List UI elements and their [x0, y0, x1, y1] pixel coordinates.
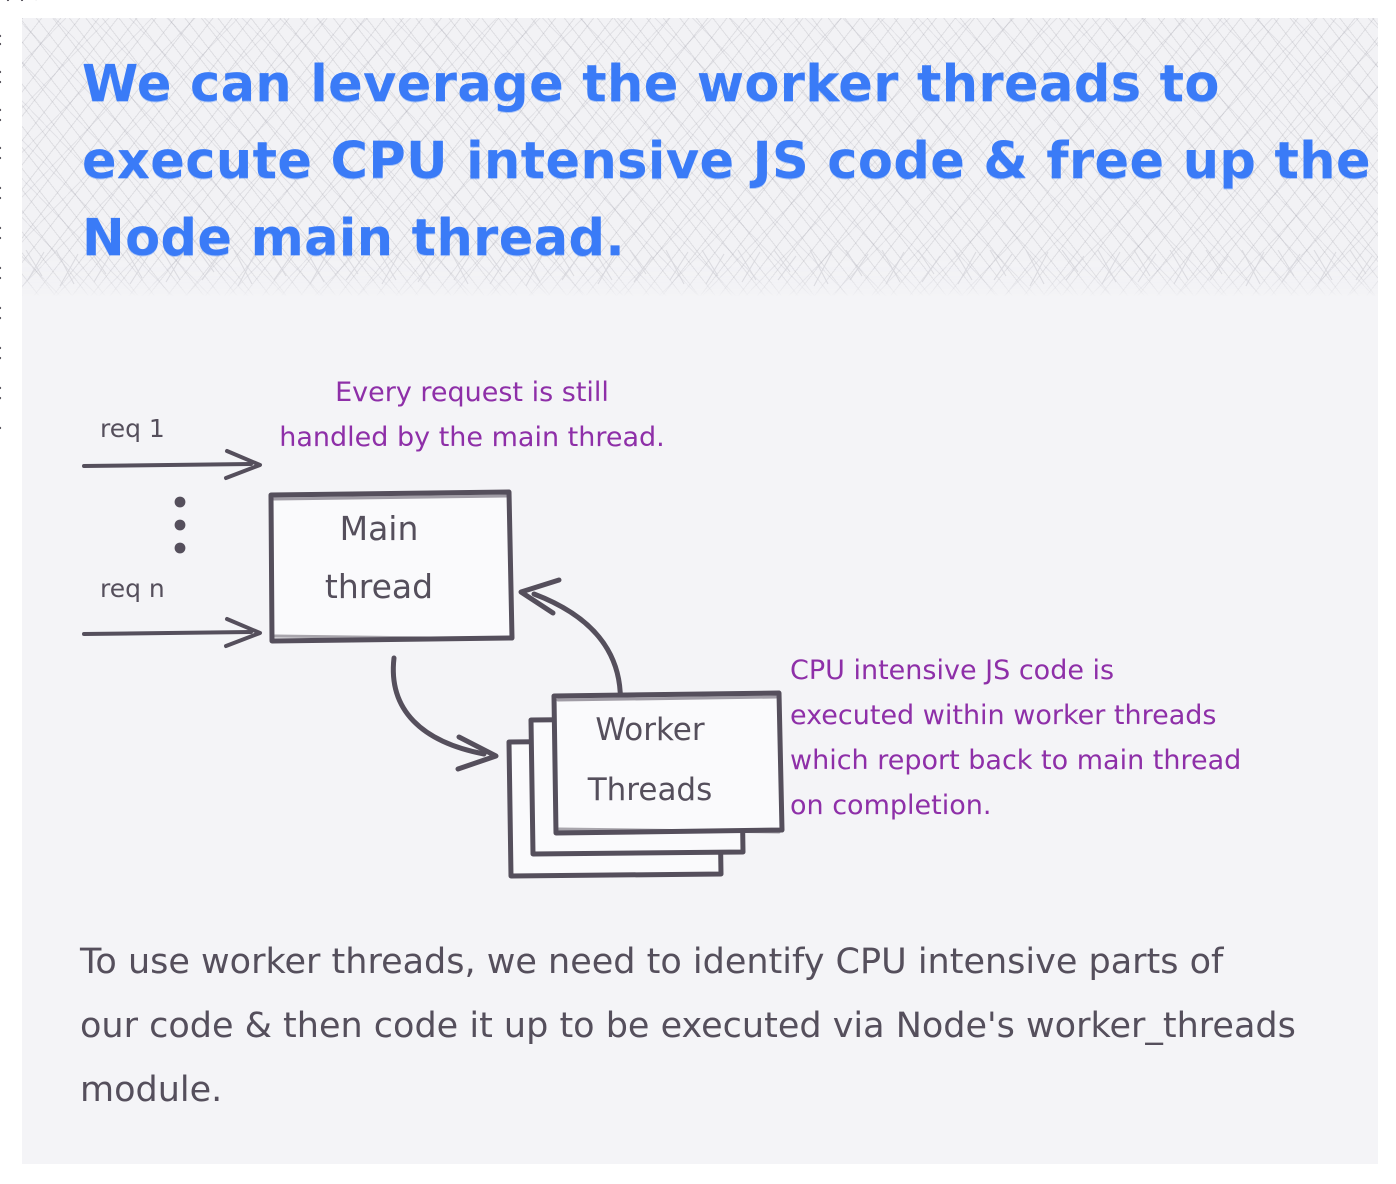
annotation-worker-threads: CPU intensive JS code is executed within… — [790, 648, 1310, 828]
headline-line-3: Node main thread. — [82, 200, 1312, 277]
label-main-thread-line-2: thread — [266, 558, 492, 616]
request-ellipsis-dots — [175, 497, 186, 554]
label-worker-threads-line-1: Worker — [540, 700, 760, 760]
label-main-thread-line-1: Main — [266, 500, 492, 558]
body-paragraph-line-3: module. — [80, 1058, 1330, 1122]
label-worker-threads-line-2: Threads — [540, 760, 760, 820]
page-title: We can leverage the worker threads to ex… — [82, 46, 1312, 277]
annotation-main-thread-line-1: Every request is still — [272, 370, 672, 415]
annotation-worker-threads-line-1: CPU intensive JS code is — [790, 648, 1310, 693]
diagram-sketch-layer — [22, 318, 1378, 918]
annotation-main-thread: Every request is still handled by the ma… — [272, 370, 672, 460]
annotation-worker-threads-line-3: which report back to main thread — [790, 738, 1310, 783]
label-request-first: req 1 — [100, 414, 165, 443]
headline-line-1: We can leverage the worker threads to — [82, 46, 1312, 123]
annotation-worker-threads-line-4: on completion. — [790, 783, 1310, 828]
body-paragraph: To use worker threads, we need to identi… — [80, 930, 1330, 1122]
label-main-thread: Main thread — [266, 500, 492, 616]
annotation-main-thread-line-2: handled by the main thread. — [272, 415, 672, 460]
body-paragraph-line-2: our code & then code it up to be execute… — [80, 994, 1330, 1058]
label-request-last: req n — [100, 574, 165, 603]
arrow-request-first — [84, 451, 260, 478]
slide-card: We can leverage the worker threads to ex… — [22, 18, 1378, 1164]
arrow-request-last — [84, 619, 260, 646]
headline-line-2: execute CPU intensive JS code & free up … — [82, 123, 1312, 200]
worker-threads-diagram: Every request is still handled by the ma… — [22, 318, 1378, 918]
annotation-worker-threads-line-2: executed within worker threads — [790, 693, 1310, 738]
body-paragraph-line-1: To use worker threads, we need to identi… — [80, 930, 1330, 994]
arrow-main-to-workers — [393, 658, 496, 769]
label-worker-threads: Worker Threads — [540, 700, 760, 820]
